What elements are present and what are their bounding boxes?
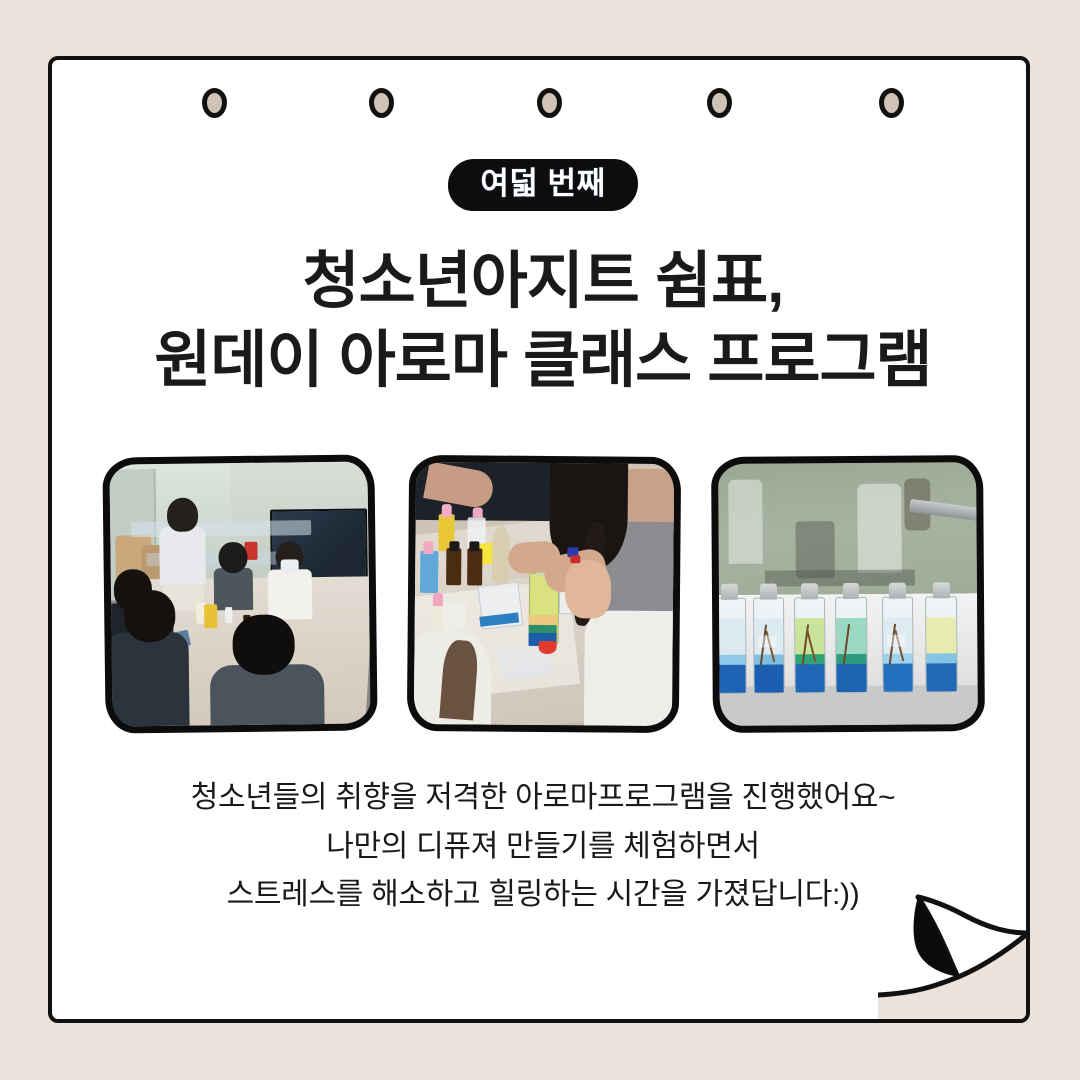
photo-gallery	[104, 456, 984, 736]
curl-edge-line	[878, 933, 1028, 995]
punch-hole	[879, 88, 904, 118]
page-title: 청소년아지트 쉼표, 원데이 아로마 클래스 프로그램	[52, 242, 1030, 401]
order-badge: 여덟 번째	[448, 159, 637, 211]
punch-hole	[707, 88, 732, 118]
punch-hole-row	[52, 88, 1030, 134]
diffuser-bottle	[753, 597, 785, 694]
caption-block: 청소년들의 취향을 저격한 아로마프로그램을 진행했어요~ 나만의 디퓨져 만들…	[52, 774, 1030, 920]
punch-hole	[202, 88, 227, 118]
diffuser-bottle	[835, 596, 867, 693]
caption-line-1: 청소년들의 취향을 저격한 아로마프로그램을 진행했어요~	[52, 774, 1030, 823]
diffuser-bottle	[882, 596, 914, 693]
diffuser-bottle	[794, 597, 826, 694]
punch-hole	[537, 88, 562, 118]
diffuser-bottle	[925, 596, 957, 693]
photo-finished-diffuser-bottles	[711, 455, 985, 733]
photo-making-diffuser-closeup	[407, 455, 681, 733]
photo-classroom-aroma-class	[102, 454, 377, 733]
diffuser-bottle	[718, 597, 746, 694]
title-line-1: 청소년아지트 쉼표,	[52, 242, 1030, 321]
title-line-2: 원데이 아로마 클래스 프로그램	[52, 321, 1030, 400]
caption-line-2: 나만의 디퓨져 만들기를 체험하면서	[52, 823, 1030, 872]
paper-card: 여덟 번째 청소년아지트 쉼표, 원데이 아로마 클래스 프로그램	[48, 56, 1030, 1023]
caption-line-3: 스트레스를 해소하고 힐링하는 시간을 가졌답니다:))	[52, 871, 1030, 920]
curl-cutout	[878, 933, 1028, 1021]
punch-hole	[369, 88, 394, 118]
badge-container: 여덟 번째	[52, 159, 1030, 211]
